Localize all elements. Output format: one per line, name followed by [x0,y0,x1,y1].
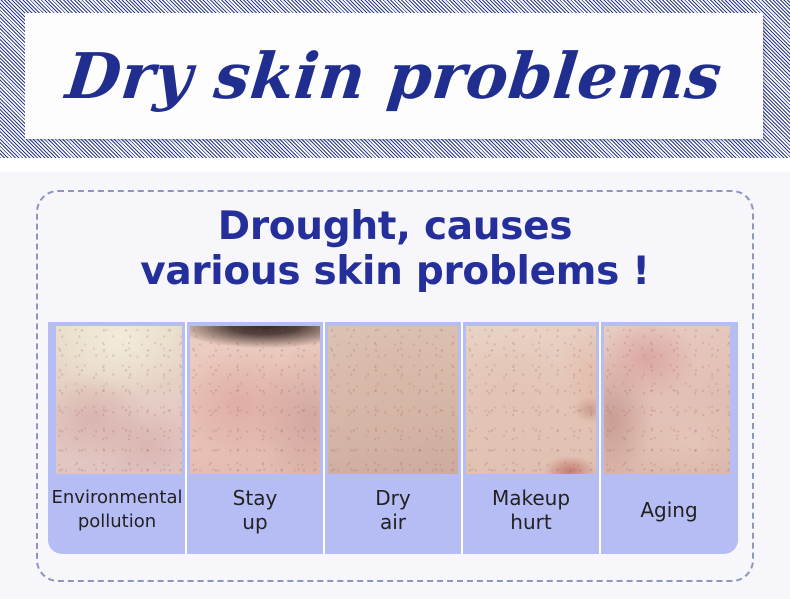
header-banner: Dry skin problems [0,0,790,158]
cause-label-dry-air: Dry air [324,474,462,554]
cause-label-environmental-pollution: Environmental pollution [48,474,186,554]
section-heading: Drought, causes various skin problems ! [36,204,754,294]
cause-cell-aging[interactable]: Aging [600,322,738,554]
cause-cell-environmental-pollution[interactable]: Environmental pollution [48,322,186,554]
cause-photo-aging [604,326,730,474]
cause-cell-stay-up[interactable]: Stay up [186,322,324,554]
cause-cell-makeup-hurt[interactable]: Makeup hurt [462,322,600,554]
page-title: Dry skin problems [25,13,763,139]
section-heading-line-2: various skin problems ! [36,249,754,294]
header-divider [0,158,790,172]
cause-label-makeup-hurt: Makeup hurt [462,474,600,554]
cause-photo-makeup-hurt [466,326,596,474]
cause-photo-environmental-pollution [56,326,182,474]
header-title-plate: Dry skin problems [25,13,763,139]
cause-label-aging: Aging [600,474,738,554]
cause-photo-dry-air [328,326,458,474]
cause-cell-dry-air[interactable]: Dry air [324,322,462,554]
section-heading-line-1: Drought, causes [218,204,572,249]
cause-label-stay-up: Stay up [186,474,324,554]
cause-photo-panel: Environmental pollution Stay up Dry air … [48,322,738,554]
cause-photo-stay-up [190,326,320,474]
content-area: Drought, causes various skin problems ! … [0,172,790,599]
